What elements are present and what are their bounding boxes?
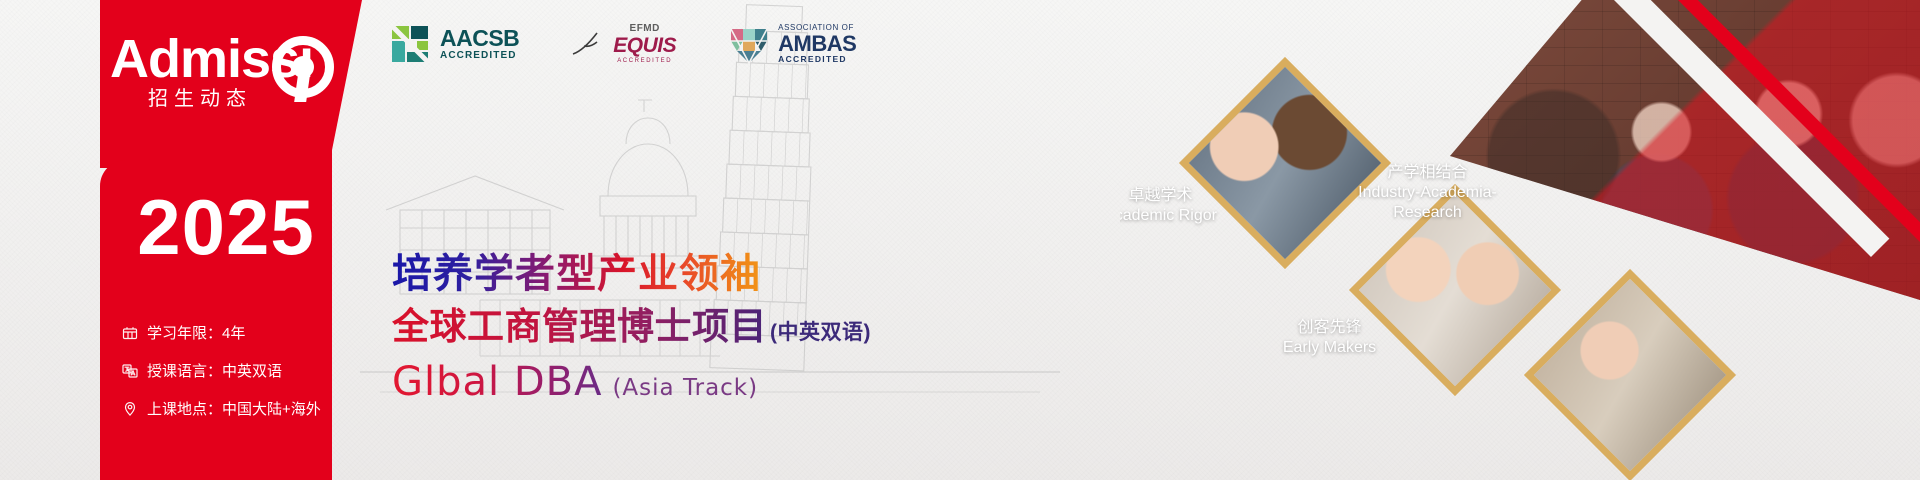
headline-program-en-sub: (Asia Track) xyxy=(612,375,758,401)
badge-industry-academia: 产学相结合 Industry-Academia-Research xyxy=(1330,163,1525,223)
badge-early-makers-en: Early Makers xyxy=(1237,338,1422,358)
year-label: 2025 xyxy=(110,188,342,266)
admission-banner: 卓越学术 Academic Rigor 产学相结合 Industry-Acade… xyxy=(0,0,1920,480)
calendar-icon xyxy=(122,325,138,341)
equis-logo: EFMD EQUIS ACCREDITED xyxy=(571,24,676,64)
photo-collage: 卓越学术 Academic Rigor 产学相结合 Industry-Acade… xyxy=(1120,0,1920,480)
info-item-location: 上课地点：中国大陆+海外 xyxy=(122,398,352,419)
headline-program-cn: 全球工商管理博士项目 (中英双语) xyxy=(392,306,871,349)
info-item-location-label: 上课地点：中国大陆+海外 xyxy=(147,398,321,419)
badge-academic-rigor: 卓越学术 Academic Rigor xyxy=(1120,186,1248,226)
program-info-list: 学习年限：4年 授课语言：中英双语 上课地点：中国大陆+海外 xyxy=(122,322,352,436)
headline-program-en: Glbal DBA (Asia Track) xyxy=(392,359,871,405)
amba-diamond-icon xyxy=(728,23,770,65)
headline-tagline: 培养学者型产业领袖 xyxy=(392,252,871,296)
diamond-photo-library-image xyxy=(1528,273,1732,477)
admission-subtitle-cn: 招生动态 xyxy=(148,82,252,111)
badge-early-makers-cn: 创客先锋 xyxy=(1237,318,1422,338)
aacsb-name: AACSB xyxy=(440,27,519,50)
aacsb-logo: AACSB ACCREDITED xyxy=(388,22,519,66)
info-item-duration: 学习年限：4年 xyxy=(122,322,352,343)
info-item-language: 授课语言：中英双语 xyxy=(122,360,352,381)
badge-industry-academia-cn: 产学相结合 xyxy=(1330,163,1525,183)
equis-name: EQUIS xyxy=(613,35,676,56)
accreditation-logos: AACSB ACCREDITED EFMD EQUIS ACCREDITED xyxy=(388,22,856,66)
badge-industry-academia-en: Industry-Academia-Research xyxy=(1330,183,1525,223)
amba-name: AMBAS xyxy=(778,32,856,55)
equis-status: ACCREDITED xyxy=(613,58,676,64)
headline-block: 培养学者型产业领袖 全球工商管理博士项目 (中英双语) Glbal DBA (A… xyxy=(392,252,871,405)
amba-logo: ASSOCIATION OF AMBAS ACCREDITED xyxy=(728,23,856,65)
efmd-label: EFMD xyxy=(613,24,676,34)
badge-academic-rigor-cn: 卓越学术 xyxy=(1120,186,1248,206)
diamond-photo-library xyxy=(1524,269,1736,480)
location-pin-icon xyxy=(122,401,138,417)
headline-program-en-main: Glbal DBA xyxy=(392,359,602,405)
info-item-duration-label: 学习年限：4年 xyxy=(147,322,245,343)
headline-program-cn-paren: (中英双语) xyxy=(770,321,871,345)
aacsb-mark-icon xyxy=(388,22,432,66)
badge-academic-rigor-en: Academic Rigor xyxy=(1120,206,1248,226)
language-icon xyxy=(122,363,138,379)
equis-swoosh-icon xyxy=(571,30,605,58)
badge-early-makers: 创客先锋 Early Makers xyxy=(1237,318,1422,358)
info-item-language-label: 授课语言：中英双语 xyxy=(147,360,282,381)
aacsb-status: ACCREDITED xyxy=(440,51,519,61)
admission-dot-icon xyxy=(292,56,314,78)
headline-program-cn-main: 全球工商管理博士项目 xyxy=(392,306,767,349)
amba-status: ACCREDITED xyxy=(778,55,856,64)
